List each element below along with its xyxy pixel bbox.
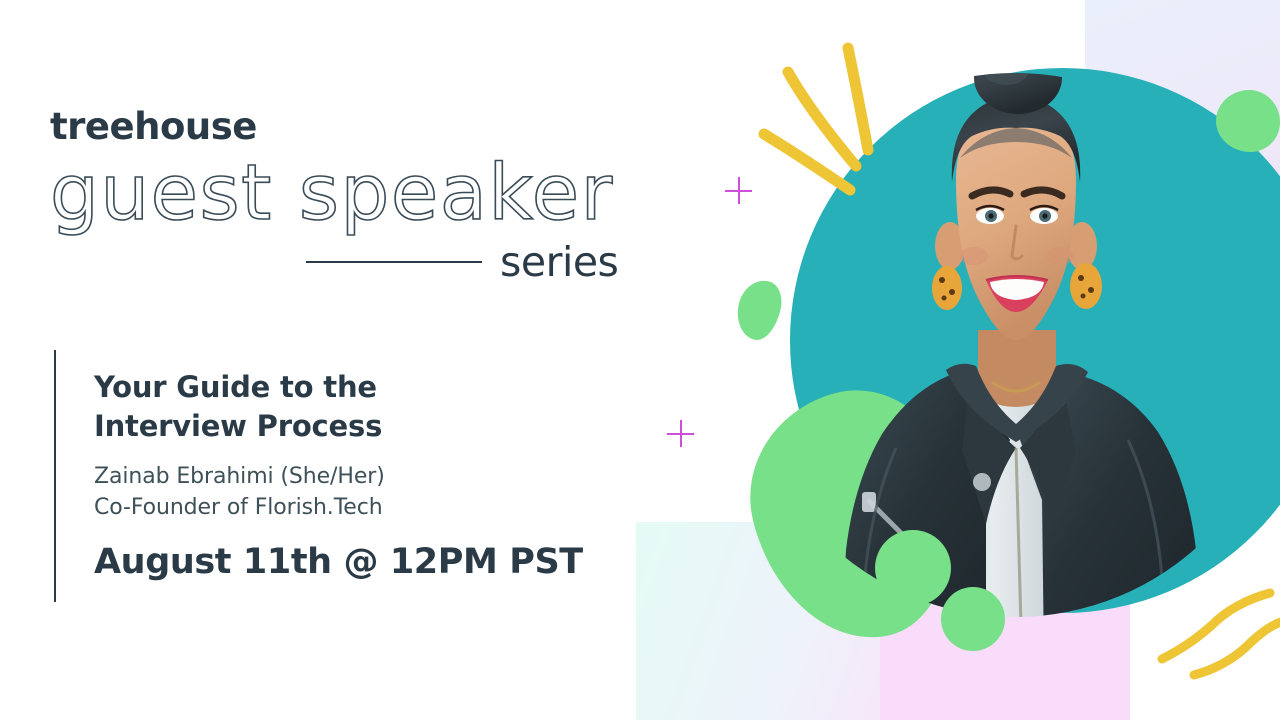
green-circle-bottom-left-2 (941, 587, 1005, 651)
plus-mark-icon-2 (667, 420, 694, 447)
brand-lockup: treehouse guest speaker series (50, 108, 670, 286)
session-datetime: August 11th @ 12PM PST (94, 542, 583, 582)
green-circle-bottom-left (875, 530, 951, 606)
yellow-wavy-strokes (1150, 575, 1280, 685)
speaker-info: Zainab Ebrahimi (She/Her) Co-Founder of … (94, 461, 583, 523)
slide-canvas: treehouse guest speaker series Your Guid… (0, 0, 1280, 720)
speaker-name: Zainab Ebrahimi (She/Her) (94, 461, 583, 492)
series-label: series (500, 238, 618, 286)
program-title: guest speaker (50, 155, 670, 232)
yellow-radiating-strokes (740, 38, 910, 208)
session-title: Your Guide to the Interview Process (94, 368, 583, 445)
brand-name: treehouse (50, 108, 670, 145)
session-title-line-2: Interview Process (94, 407, 583, 446)
green-blob-small (732, 276, 786, 343)
series-row: series (50, 238, 670, 286)
series-divider (306, 261, 482, 263)
plus-mark-icon-1 (725, 177, 752, 204)
session-info-block: Your Guide to the Interview Process Zain… (54, 350, 583, 602)
info-text-group: Your Guide to the Interview Process Zain… (56, 350, 583, 602)
session-title-line-1: Your Guide to the (94, 368, 583, 407)
speaker-role: Co-Founder of Florish.Tech (94, 492, 583, 523)
